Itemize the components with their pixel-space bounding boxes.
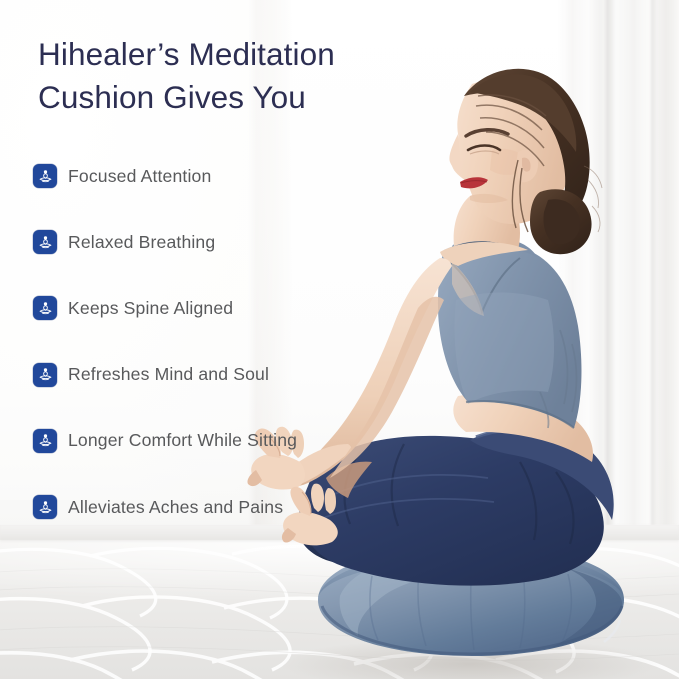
lotus-meditation-icon	[33, 230, 57, 254]
benefit-label: Focused Attention	[68, 166, 211, 187]
lotus-meditation-icon	[33, 164, 57, 188]
list-item: Alleviates Aches and Pains	[33, 474, 453, 540]
lotus-meditation-icon	[33, 429, 57, 453]
benefit-label: Relaxed Breathing	[68, 232, 215, 253]
benefit-label: Longer Comfort While Sitting	[68, 430, 297, 451]
lotus-meditation-icon	[33, 296, 57, 320]
torso	[438, 239, 593, 462]
list-item: Keeps Spine Aligned	[33, 275, 453, 341]
lotus-meditation-icon	[33, 495, 57, 519]
benefits-list: Focused Attention Relaxed Breathing	[33, 143, 453, 540]
list-item: Longer Comfort While Sitting	[33, 408, 453, 474]
list-item: Relaxed Breathing	[33, 209, 453, 275]
head-and-neck	[440, 69, 602, 266]
benefit-label: Alleviates Aches and Pains	[68, 497, 283, 518]
benefit-label: Keeps Spine Aligned	[68, 298, 233, 319]
lotus-meditation-icon	[33, 363, 57, 387]
benefit-label: Refreshes Mind and Soul	[68, 364, 269, 385]
list-item: Focused Attention	[33, 143, 453, 209]
page-title: Hihealer’s Meditation Cushion Gives You	[38, 33, 458, 119]
product-benefit-graphic: Hihealer’s Meditation Cushion Gives You …	[0, 0, 679, 679]
list-item: Refreshes Mind and Soul	[33, 342, 453, 408]
